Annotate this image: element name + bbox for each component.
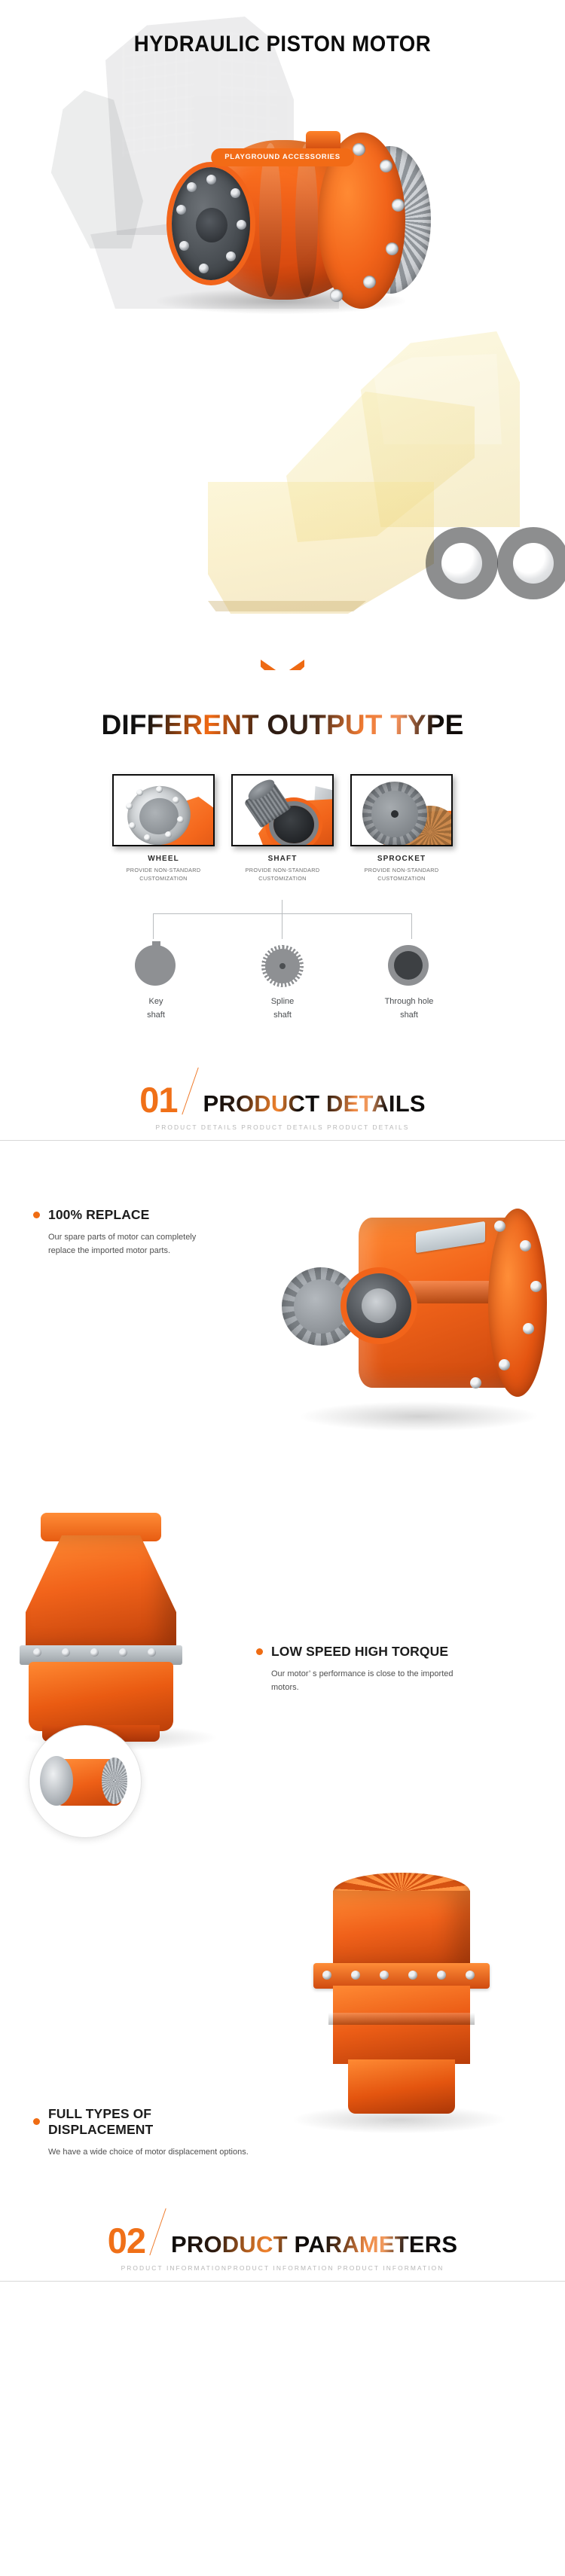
motor-end-plate (488, 1209, 547, 1397)
motor-bolt (148, 1648, 156, 1657)
motor-bolt (322, 1971, 331, 1980)
motor-bolt (363, 276, 376, 288)
bullet-icon (33, 1212, 40, 1218)
wheel-photo (112, 774, 215, 846)
feature-block-replace: 100% REPLACE Our spare parts of motor ca… (0, 1175, 565, 1492)
motor-bolt (330, 289, 343, 302)
section-slash-divider (145, 2210, 171, 2257)
motor-bolt (392, 199, 405, 212)
motor-hub-bearing (362, 1288, 396, 1323)
motor-bolt (380, 160, 392, 172)
bullet-icon (33, 2118, 40, 2125)
motor-bolt (62, 1648, 70, 1657)
motor-bolt (466, 1971, 475, 1980)
bracket-drop (411, 913, 412, 939)
section-number: 01 (139, 1084, 177, 1116)
motor-upper-housing (333, 1891, 470, 1969)
motor-bolt (494, 1221, 505, 1232)
output-type-card-list: WHEEL PROVIDE NON-STANDARD CUSTOMIZATION… (0, 774, 565, 883)
motor-bolt (470, 1377, 481, 1389)
spline-shaft-icon (261, 945, 304, 987)
output-sprocket-inner (294, 1279, 348, 1334)
bracket-drop (282, 913, 282, 939)
motor-hub-bolt (176, 205, 186, 215)
section-header-product-parameters: 02 PRODUCT PARAMETERS PRODUCT INFORMATIO… (0, 2210, 565, 2282)
loader-rear-wheel (497, 527, 565, 599)
card-label: SHAFT (231, 855, 334, 863)
feature-body: Our spare parts of motor can completely … (33, 1231, 221, 1258)
wheel-bolt-hole (156, 786, 163, 793)
shaft-label-line2: shaft (147, 1011, 165, 1020)
feature-text: FULL TYPES OF DISPLACEMENT We have a wid… (33, 2106, 252, 2160)
inset-motor-ring (102, 1757, 127, 1804)
loader-bucket-graphic (208, 482, 434, 614)
motor-bolt (499, 1359, 510, 1370)
motor-mid-housing (333, 1986, 470, 2064)
motor-hub-bolt (237, 220, 246, 230)
feature-image-torque (0, 1499, 249, 1846)
section-subtitle: PRODUCT DETAILS PRODUCT DETAILS PRODUCT … (0, 1123, 565, 1131)
shaft-type-through-hole[interactable]: Through hole shaft (368, 945, 450, 1023)
spline-shaft-center (279, 963, 286, 969)
shaft-type-list: Key shaft Spline shaft Through hol (0, 945, 565, 1023)
motor-hub-bolt (199, 264, 209, 273)
motor-bolt (90, 1648, 99, 1657)
motor-bolt (408, 1971, 417, 1980)
feature-image-displacement (249, 1858, 565, 2159)
output-type-heading: DIFFERENT OUTPUT TYPE (0, 709, 565, 741)
motor-mid-flange (313, 1963, 490, 1989)
category-badge: PLAYGROUND ACCESSORIES (211, 148, 354, 166)
motor-lower-housing (29, 1662, 173, 1731)
bracket-stem (282, 900, 282, 914)
section-header-product-details: 01 PRODUCT DETAILS PRODUCT DETAILS PRODU… (0, 1069, 565, 1141)
card-subtitle: PROVIDE NON-STANDARD CUSTOMIZATION (112, 867, 215, 883)
motor-hub-bolt (231, 188, 240, 198)
motor-bolt (353, 143, 365, 156)
feature-text: 100% REPLACE Our spare parts of motor ca… (33, 1207, 221, 1258)
section-title: PRODUCT DETAILS (203, 1092, 426, 1116)
motor-hub-center (196, 208, 228, 242)
shaft-label-line1: Spline (271, 997, 295, 1006)
wheel-bolt-hole (144, 834, 151, 841)
shaft-photo (231, 774, 334, 846)
loader-bucket-lip-graphic (208, 601, 366, 611)
wheel-bolt-hole (136, 789, 143, 796)
motor-hub-bolt (187, 182, 197, 192)
motor-upper-housing (26, 1535, 176, 1648)
card-subtitle: PROVIDE NON-STANDARD CUSTOMIZATION (231, 867, 334, 883)
wheel-bolt-hole (126, 803, 133, 809)
feature-title-row: 100% REPLACE (33, 1207, 221, 1223)
motor-hub-bolt (226, 252, 236, 261)
shaft-label-line1: Key (149, 997, 163, 1006)
motor-hub-bolt (206, 175, 216, 184)
feature-body: We have a wide choice of motor displacem… (33, 2146, 252, 2160)
card-label: WHEEL (112, 855, 215, 863)
section-divider (0, 1140, 565, 1141)
page-title: HYDRAULIC PISTON MOTOR (23, 32, 542, 57)
motor-bolt (351, 1971, 360, 1980)
output-type-section: DIFFERENT OUTPUT TYPE WHEEL (0, 670, 565, 1023)
feature-block-displacement: FULL TYPES OF DISPLACEMENT We have a wid… (0, 1858, 565, 2196)
section-title: PRODUCT PARAMETERS (171, 2233, 457, 2257)
key-shaft-body (135, 945, 176, 986)
shaft-label-line2: shaft (400, 1011, 418, 1020)
wheel-bolt-hole (129, 822, 136, 829)
shaft-label-line1: Through hole (385, 997, 434, 1006)
wheel-bolt-hole (173, 797, 179, 803)
motor-base (348, 2059, 455, 2114)
feature-body: Our motor’ s performance is close to the… (256, 1668, 482, 1695)
section-slash-divider (178, 1069, 203, 1116)
feature-heading: FULL TYPES OF DISPLACEMENT (48, 2106, 252, 2138)
shaft-type-spline[interactable]: Spline shaft (241, 945, 324, 1023)
feature-block-torque: LOW SPEED HIGH TORQUE Our motor’ s perfo… (0, 1499, 565, 1853)
section-divider (0, 2281, 565, 2282)
card-subtitle: PROVIDE NON-STANDARD CUSTOMIZATION (350, 867, 453, 883)
key-shaft-keyway (152, 941, 160, 950)
motor-bolt (530, 1281, 542, 1292)
wheel-bolt-hole (177, 816, 184, 823)
section-subtitle: PRODUCT INFORMATIONPRODUCT INFORMATION P… (0, 2264, 565, 2272)
sprocket-hub-hole (391, 810, 399, 818)
chevron-down-icon (261, 660, 304, 670)
motor-bolt (33, 1648, 41, 1657)
feature-text: LOW SPEED HIGH TORQUE Our motor’ s perfo… (256, 1644, 482, 1695)
feature-title-row: LOW SPEED HIGH TORQUE (256, 1644, 482, 1660)
motor-bolt (520, 1240, 531, 1251)
motor-bolt (437, 1971, 446, 1980)
card-label: SPROCKET (350, 855, 453, 863)
output-type-card-wheel[interactable]: WHEEL PROVIDE NON-STANDARD CUSTOMIZATION (112, 774, 215, 883)
sprocket-photo (350, 774, 453, 846)
feature-heading: LOW SPEED HIGH TORQUE (271, 1644, 448, 1660)
motor-bolt (380, 1971, 389, 1980)
shaft-type-key[interactable]: Key shaft (115, 945, 197, 1023)
through-hole-shaft-icon (388, 945, 430, 987)
shaft-label-line2: shaft (273, 1011, 292, 1020)
through-hole-shaft-body (388, 945, 429, 986)
product-shadow (298, 1401, 539, 1431)
output-type-card-sprocket[interactable]: SPROCKET PROVIDE NON-STANDARD CUSTOMIZAT… (350, 774, 453, 883)
feature-title-row: FULL TYPES OF DISPLACEMENT (33, 2106, 252, 2138)
motor-band (328, 2013, 475, 2025)
feature-heading: 100% REPLACE (48, 1207, 149, 1223)
output-type-card-shaft[interactable]: SHAFT PROVIDE NON-STANDARD CUSTOMIZATION (231, 774, 334, 883)
feature-image-replace (268, 1175, 565, 1477)
hero-banner: HYDRAULIC PISTON MOTOR PLAYGROUND ACCESS… (0, 0, 565, 670)
wheel-bolt-hole (165, 831, 172, 838)
motor-bolt (523, 1323, 534, 1334)
bullet-icon (256, 1648, 263, 1655)
key-shaft-icon (135, 945, 177, 987)
motor-bolt (119, 1648, 127, 1657)
shaft-type-bracket (124, 900, 441, 944)
bracket-drop (153, 913, 154, 939)
feature-image-inset-wheel-motor (29, 1725, 142, 1838)
through-hole-bore (394, 951, 423, 980)
motor-bolt (386, 242, 399, 255)
motor-hub-bolt (179, 241, 189, 251)
section-number: 02 (108, 2224, 145, 2257)
inset-motor-flange (40, 1756, 73, 1806)
loader-front-wheel (426, 527, 498, 599)
